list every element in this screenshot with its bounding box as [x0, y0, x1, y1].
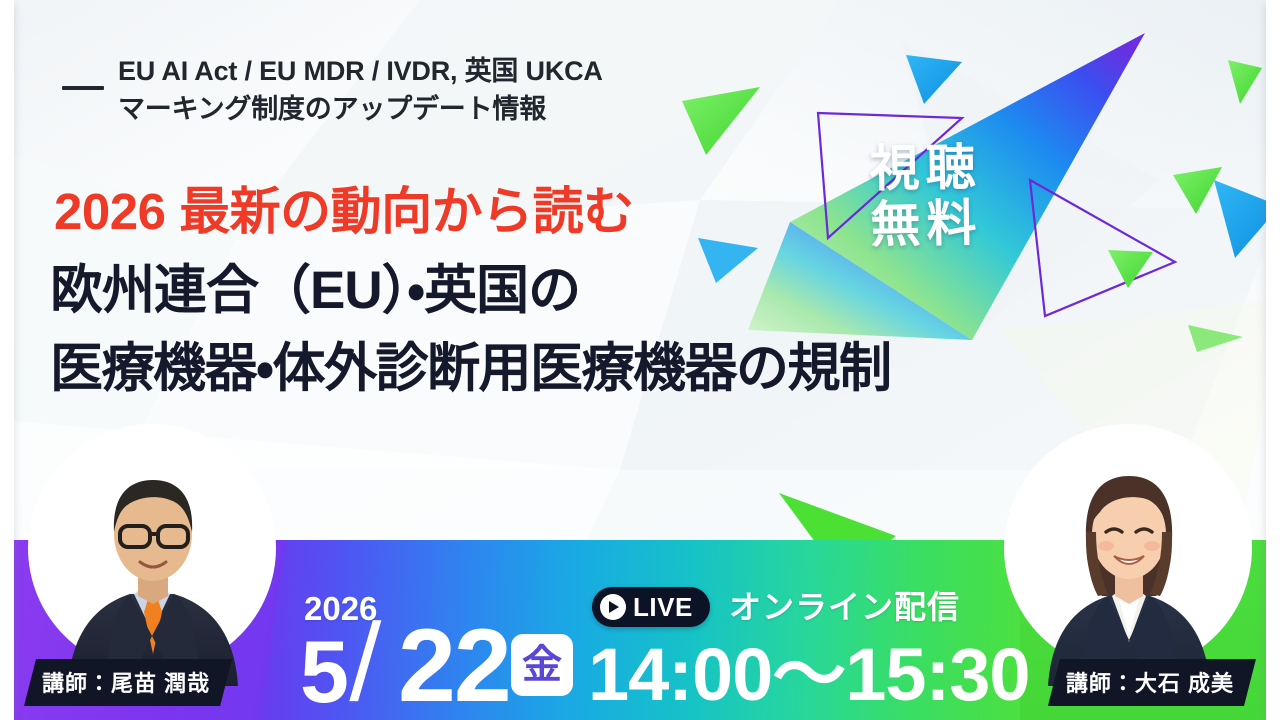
speaker-photo-right: [1030, 436, 1226, 686]
date-day: 22: [398, 614, 510, 718]
date-day-of-week: 金: [511, 634, 573, 696]
date-separator: /: [349, 608, 381, 718]
free-viewing-badge: 視聴 無料: [869, 139, 983, 253]
left-edge-rail: [0, 0, 14, 720]
date-month: 5: [300, 628, 349, 716]
speaker-card-left: 講師：尾苗 潤哉: [18, 420, 286, 720]
speaker-card-right: 講師：大石 成美: [994, 420, 1262, 720]
live-label: LIVE: [633, 594, 693, 620]
headline-line-1: 欧州連合（EU）・英国の: [50, 248, 580, 324]
right-edge-rail: [1266, 0, 1280, 720]
headline-red: 2026 最新の動向から読む: [54, 170, 634, 244]
session-time: 14:00〜15:30: [588, 638, 1030, 712]
kicker-dash-icon: [62, 86, 104, 90]
speaker-photo-left: [54, 436, 250, 686]
speaker-name-left: 講師：尾苗 潤哉: [24, 659, 232, 706]
speaker-name-right: 講師：大石 成美: [1048, 659, 1256, 706]
webinar-banner: EU AI Act / EU MDR / IVDR, 英国 UKCA マーキング…: [0, 0, 1280, 720]
date-day-of-week-label: 金: [522, 645, 562, 685]
delivery-method: オンライン配信: [729, 582, 960, 628]
headline-line-2: 医療機器・体外診断用医療機器の規制: [50, 326, 891, 402]
kicker-text: EU AI Act / EU MDR / IVDR, 英国 UKCA マーキング…: [118, 52, 758, 129]
play-icon: [600, 594, 626, 620]
live-badge: LIVE: [592, 587, 710, 627]
